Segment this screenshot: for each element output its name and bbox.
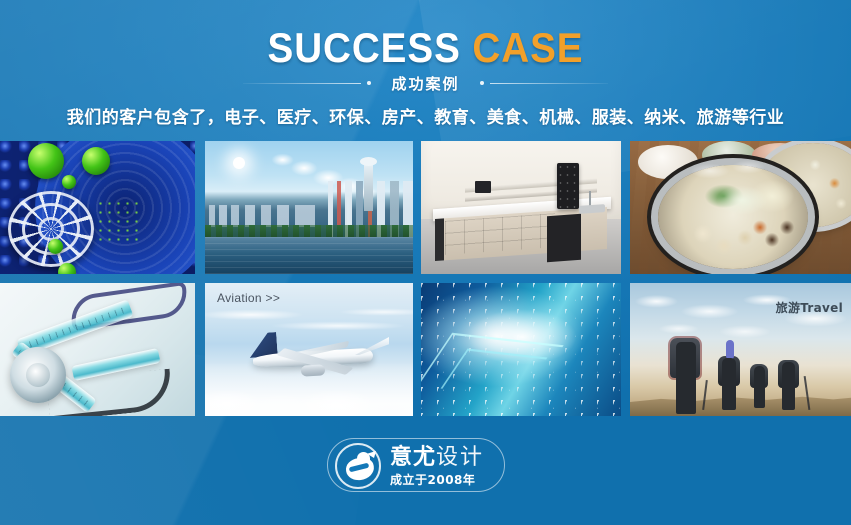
divider-line-right xyxy=(490,83,608,84)
case-image-medical[interactable] xyxy=(0,283,195,416)
tagline: 我们的客户包含了，电子、医疗、环保、房产、教育、美食、机械、服装、纳米、旅游等行… xyxy=(0,103,851,128)
hiker xyxy=(722,358,736,410)
particle-cluster xyxy=(96,199,140,243)
sun-icon xyxy=(233,157,245,169)
case-image-electronics[interactable] xyxy=(421,283,621,416)
cloud-bank xyxy=(205,362,413,416)
food-artwork xyxy=(630,141,851,274)
green-sphere xyxy=(58,263,76,274)
page-title: SUCCESS CASE xyxy=(34,25,817,71)
control-panel xyxy=(557,163,579,209)
case-image-environment[interactable] xyxy=(205,141,413,274)
case-image-travel[interactable]: 旅游Travel xyxy=(630,283,851,416)
subtitle-cn: 成功案例 xyxy=(377,73,473,94)
title-success: SUCCESS xyxy=(268,24,461,71)
steam xyxy=(674,151,794,191)
divider-line-left xyxy=(243,83,361,84)
nanotech-artwork xyxy=(0,141,195,274)
river-water xyxy=(205,237,413,274)
subtitle-row: 成功案例 xyxy=(0,72,851,94)
green-sphere xyxy=(62,175,76,189)
brand-name-bold: 意尤 xyxy=(390,445,436,470)
brand-text: 意尤设计 成立于2008年 xyxy=(390,445,502,488)
title-case: CASE xyxy=(472,24,583,71)
brand-name: 意尤设计 xyxy=(390,445,502,470)
electronics-artwork xyxy=(421,283,621,416)
divider-dot-right xyxy=(480,81,484,85)
mountain-ridge xyxy=(630,390,851,416)
travel-overlay-label: 旅游Travel xyxy=(776,299,843,316)
brand-logo[interactable]: 意尤设计 成立于2008年 xyxy=(327,438,505,492)
sleeping-roll xyxy=(726,340,734,360)
case-image-aviation[interactable]: Aviation >> xyxy=(205,283,413,416)
fullerene-icon xyxy=(8,191,94,267)
environment-artwork xyxy=(205,141,413,274)
case-image-nanotech[interactable] xyxy=(0,141,195,274)
gallery-row-2: Aviation >> xyxy=(0,283,851,416)
green-sphere xyxy=(48,239,63,254)
cooling-tower xyxy=(364,163,373,211)
green-sphere xyxy=(82,147,110,175)
medical-artwork xyxy=(0,283,195,416)
hiker xyxy=(754,366,765,408)
banner-header: SUCCESS CASE 成功案例 我们的客户包含了，电子、医疗、环保、房产、教… xyxy=(0,0,851,140)
banner-stage: SUCCESS CASE 成功案例 我们的客户包含了，电子、医疗、环保、房产、教… xyxy=(0,0,851,525)
bench-dark-cabinet xyxy=(547,214,581,262)
mouse-bird-icon xyxy=(335,443,381,489)
aviation-overlay-label: Aviation >> xyxy=(217,291,280,305)
brand-established: 成立于2008年 xyxy=(390,472,502,488)
cirrus-clouds xyxy=(205,301,413,347)
hiker xyxy=(782,362,795,410)
gallery-row-1 xyxy=(0,141,851,274)
sky-clouds xyxy=(630,287,851,359)
control-panel xyxy=(475,181,491,193)
divider-dot-left xyxy=(367,81,371,85)
hiker xyxy=(676,342,696,414)
city-skyline xyxy=(205,205,315,227)
lab-furniture-artwork xyxy=(421,141,621,274)
brand-name-light: 设计 xyxy=(436,445,484,470)
case-gallery: Aviation >> xyxy=(0,141,851,417)
case-image-lab-furniture[interactable] xyxy=(421,141,621,274)
case-image-food-hotpot[interactable] xyxy=(630,141,851,274)
green-sphere xyxy=(28,143,64,179)
